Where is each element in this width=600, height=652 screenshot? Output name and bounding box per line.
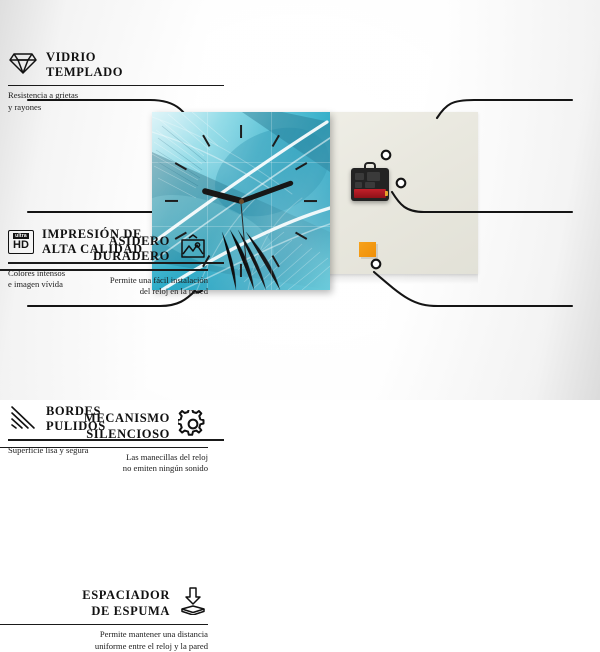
foam-spacer-pad xyxy=(359,242,376,257)
feature-description: Resistencia a grietas y rayones xyxy=(8,90,224,113)
feature-header: VIDRIO TEMPLADO xyxy=(8,48,224,82)
movement-detail xyxy=(355,173,364,180)
feature-description: Permite mantener una distancia uniforme … xyxy=(0,629,208,652)
movement-battery xyxy=(354,189,386,198)
gear-icon xyxy=(178,410,208,443)
foam-spacer-arrow-icon xyxy=(178,587,208,620)
feature-rule xyxy=(0,447,208,448)
diamond-icon xyxy=(8,50,38,81)
picture-frame-hanger-icon xyxy=(178,234,208,265)
feature-title: MECANISMO SILENCIOSO xyxy=(84,411,170,442)
feature-description: Permite una fácil instalación del reloj … xyxy=(0,275,208,298)
clock-hour-hand xyxy=(202,188,242,204)
movement-detail xyxy=(367,172,380,181)
clock-minute-hand xyxy=(240,180,293,203)
connector-dot-asidero xyxy=(382,151,391,160)
feature-asidero-duradero: ASIDERO DURADERO Permite una fácil insta… xyxy=(0,232,208,297)
feature-rule xyxy=(8,85,224,86)
feature-header: ESPACIADOR DE ESPUMA xyxy=(0,587,208,621)
feature-vidrio-templado: VIDRIO TEMPLADO Resistencia a grietas y … xyxy=(8,48,224,113)
feature-title: ASIDERO DURADERO xyxy=(93,234,170,265)
feature-title: ESPACIADOR DE ESPUMA xyxy=(82,588,170,619)
feature-title: VIDRIO TEMPLADO xyxy=(46,50,123,81)
movement-detail xyxy=(365,182,375,188)
feature-espaciador-de-espuma: ESPACIADOR DE ESPUMA Permite mantener un… xyxy=(0,587,208,652)
connector-dot-mecanismo xyxy=(397,179,406,188)
feature-rule xyxy=(0,269,208,270)
feature-rule xyxy=(0,624,208,625)
feature-header: ASIDERO DURADERO xyxy=(0,232,208,266)
clock-second-hand xyxy=(240,201,247,263)
infographic-stage: VIDRIO TEMPLADO Resistencia a grietas y … xyxy=(0,0,600,400)
feature-mecanismo-silencioso: MECANISMO SILENCIOSO Las manecillas del … xyxy=(0,410,208,475)
clock-center-cap xyxy=(239,199,244,204)
movement-detail xyxy=(355,182,362,188)
feature-description: Las manecillas del reloj no emiten ningú… xyxy=(0,452,208,475)
connector-dot-espaciador xyxy=(372,260,381,269)
feature-header: MECANISMO SILENCIOSO xyxy=(0,410,208,444)
quartz-clock-movement xyxy=(351,168,389,201)
